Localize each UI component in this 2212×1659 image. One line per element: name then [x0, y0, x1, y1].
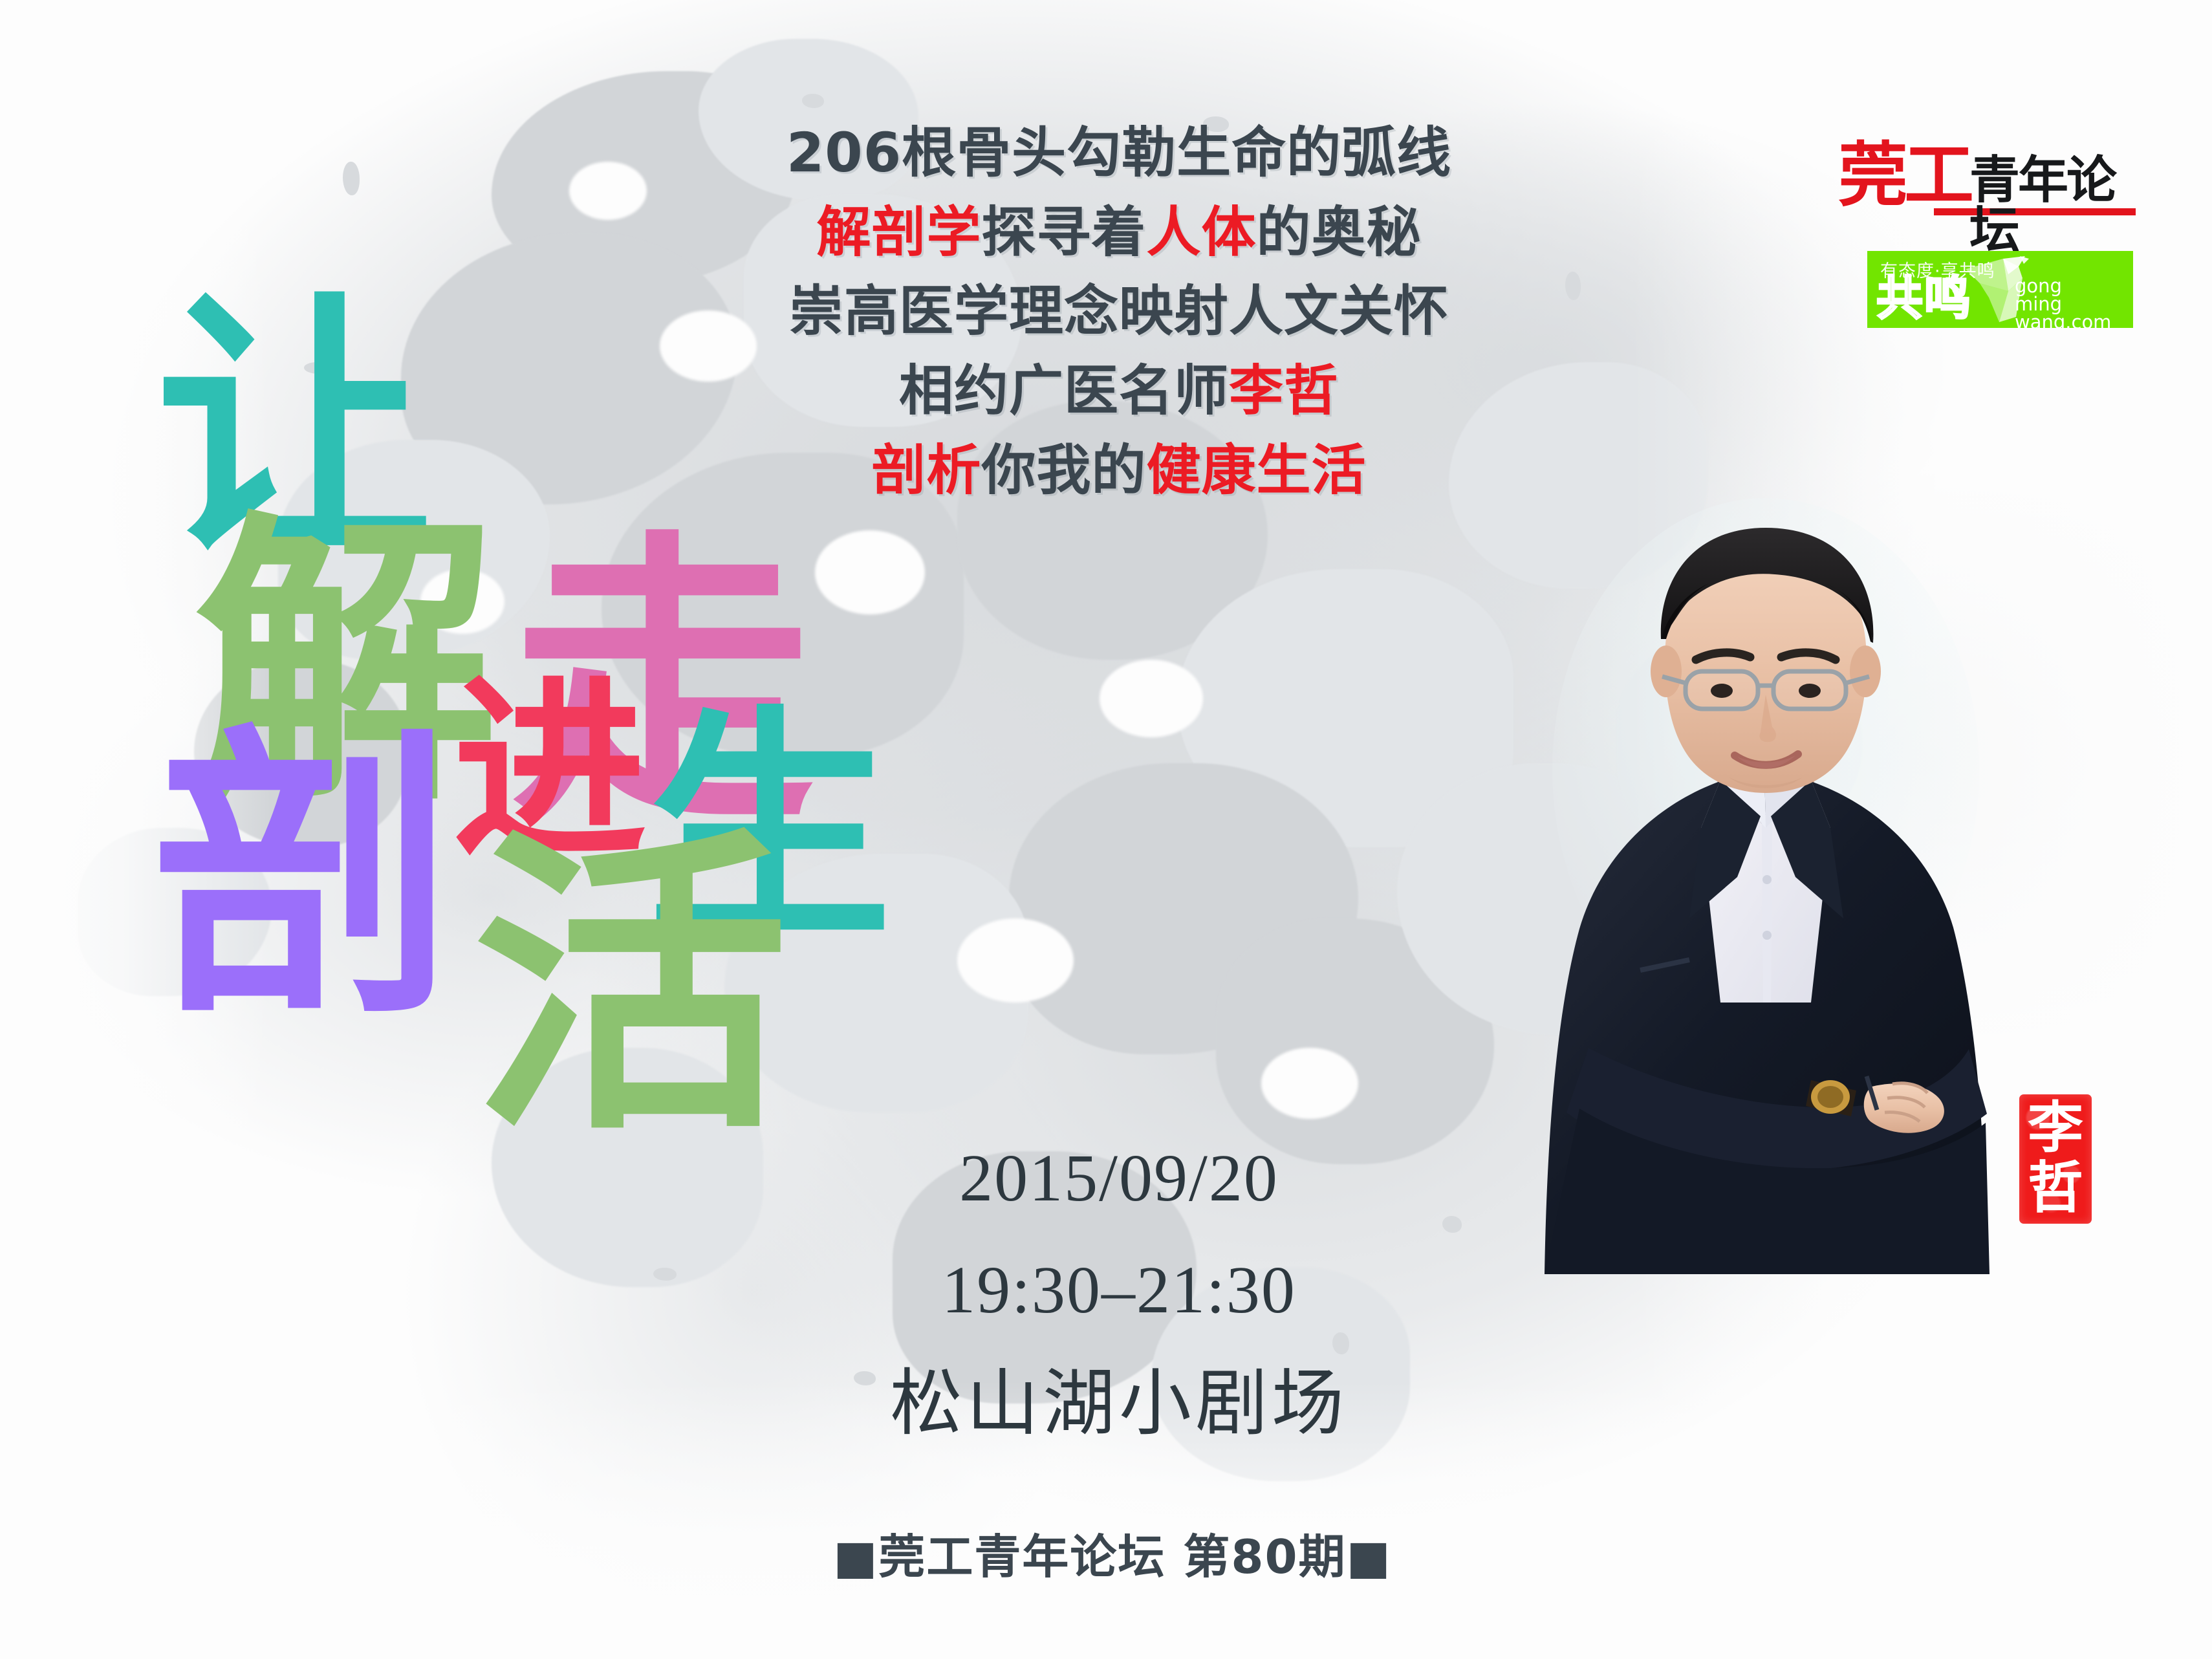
- headline-line-4-dark-1: 相约广医名师: [899, 359, 1229, 422]
- headline-line-2: 解剖学探寻着人体的奥秘: [731, 193, 1507, 272]
- sponsor-logo-gongmingwang[interactable]: 有态度·享共鸣 共鸣 gong ming wang.com: [1867, 251, 2133, 328]
- headline-line-4-speaker-name: 李哲: [1229, 359, 1339, 422]
- event-date: 2015/09/20: [828, 1135, 1410, 1221]
- event-details: 2015/09/20 19:30–21:30 松山湖小剧场: [828, 1135, 1410, 1449]
- speaker-name-seal: 李 哲: [2019, 1094, 2092, 1224]
- event-venue: 松山湖小剧场: [828, 1360, 1410, 1449]
- headline-line-5-dark-1: 你我的: [981, 439, 1146, 502]
- forum-logo[interactable]: 莞工 青年论坛: [1838, 141, 2136, 217]
- seal-texture: [2019, 1094, 2092, 1224]
- headline-line-2-red-2: 人体: [1147, 201, 1257, 264]
- sponsor-url-text: gong ming wang.com: [2015, 277, 2111, 328]
- sponsor-main-text: 共鸣: [1876, 275, 1972, 321]
- headline-line-1: 206根骨头勾勒生命的弧线: [731, 113, 1507, 193]
- forum-logo-red-text: 莞工: [1838, 141, 1970, 211]
- headline-line-2-red-1: 解剖学: [816, 201, 981, 264]
- title-char-huo: 活: [472, 828, 789, 1145]
- title-char-pou: 剖: [152, 724, 456, 1028]
- headline-block: 206根骨头勾勒生命的弧线 解剖学探寻着人体的奥秘 崇高医学理念映射人文关怀 相…: [731, 113, 1507, 510]
- headline-line-5: 剖析你我的健康生活: [731, 431, 1507, 510]
- event-time: 19:30–21:30: [828, 1247, 1410, 1333]
- poster-canvas: 让 解 剖 走 进 生 活 206根骨头勾勒生命的弧线 解剖学探寻着人体的奥秘 …: [0, 0, 2212, 1659]
- headline-line-4: 相约广医名师李哲: [731, 351, 1507, 431]
- forum-logo-dark-text: 青年论坛: [1969, 155, 2136, 256]
- speaker-portrait: [1507, 466, 2018, 1274]
- headline-line-3: 崇高医学理念映射人文关怀: [731, 272, 1507, 351]
- headline-line-2-dark-1: 探寻着: [981, 201, 1146, 264]
- headline-line-5-red-1: 剖析: [871, 439, 981, 502]
- headline-line-5-red-2: 健康生活: [1147, 439, 1367, 502]
- footer-series-label: ■莞工青年论坛 第80期■: [744, 1519, 1481, 1587]
- headline-line-2-dark-2: 的奥秘: [1257, 201, 1422, 264]
